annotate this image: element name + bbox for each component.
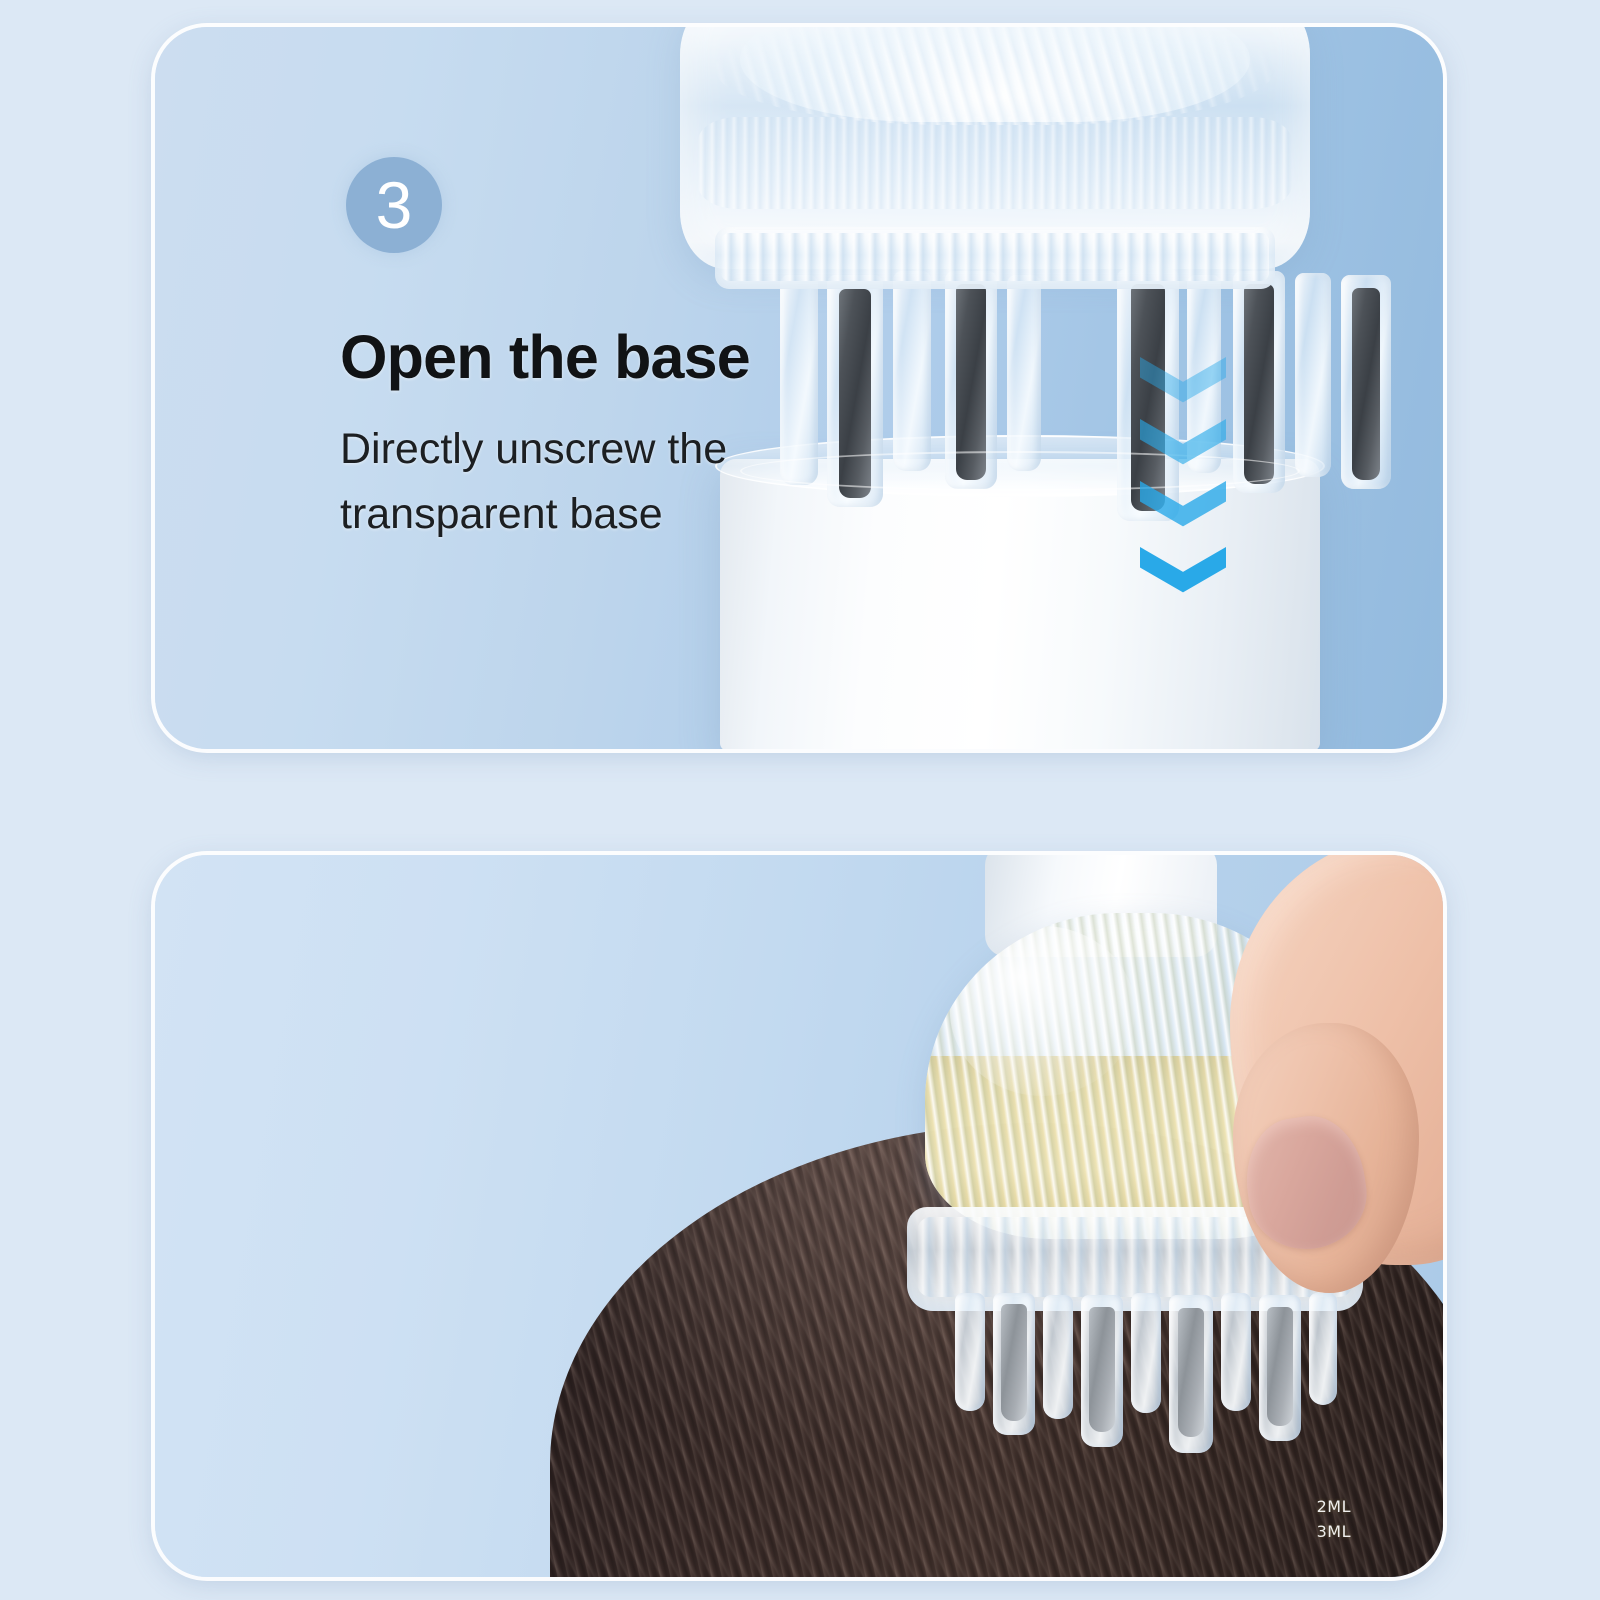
step-text-block-3: 3 Open the base Directly unscrew the tra…: [340, 157, 860, 548]
bristle4-clear-3: [1131, 1293, 1161, 1413]
step-card-3: 3 Open the base Directly unscrew the tra…: [155, 27, 1443, 749]
step-headline-3: Open the base: [340, 325, 860, 391]
product-illustration-step4: 2ML 3ML: [155, 855, 1443, 1577]
bristle4-clear-5: [1309, 1293, 1337, 1405]
volume-graduation-marks: 2ML 3ML: [1317, 1495, 1351, 1545]
chevron-down-icon: [1140, 481, 1226, 535]
bristle4-clear-4: [1221, 1293, 1251, 1411]
volume-mark-3ml: 3ML: [1317, 1520, 1351, 1545]
bristle4-gray-4: [1259, 1295, 1301, 1441]
bristle4-clear-2: [1043, 1295, 1073, 1419]
volume-mark-2ml: 2ML: [1317, 1495, 1351, 1520]
down-arrow-stack: [1140, 357, 1226, 625]
chevron-down-icon: [1140, 547, 1226, 601]
bristle4-gray-2: [1081, 1295, 1123, 1447]
bristle4-gray-3: [1169, 1295, 1213, 1453]
bristle-clear-3: [1007, 275, 1041, 471]
step-number-badge-3: 3: [346, 157, 442, 253]
chevron-down-icon: [1140, 357, 1226, 411]
bristle-clear-2: [893, 271, 931, 471]
chevron-down-icon: [1140, 419, 1226, 473]
bristle4-gray-1: [993, 1293, 1035, 1435]
step-card-4: 2ML 3ML 4 Press and slide to release the…: [155, 855, 1443, 1577]
bristle-dark-4: [1341, 275, 1391, 489]
bristle4-clear-1: [955, 1293, 985, 1411]
step-subline-3: Directly unscrew the transparent base: [340, 417, 860, 548]
bristle-clear-5: [1295, 273, 1331, 477]
